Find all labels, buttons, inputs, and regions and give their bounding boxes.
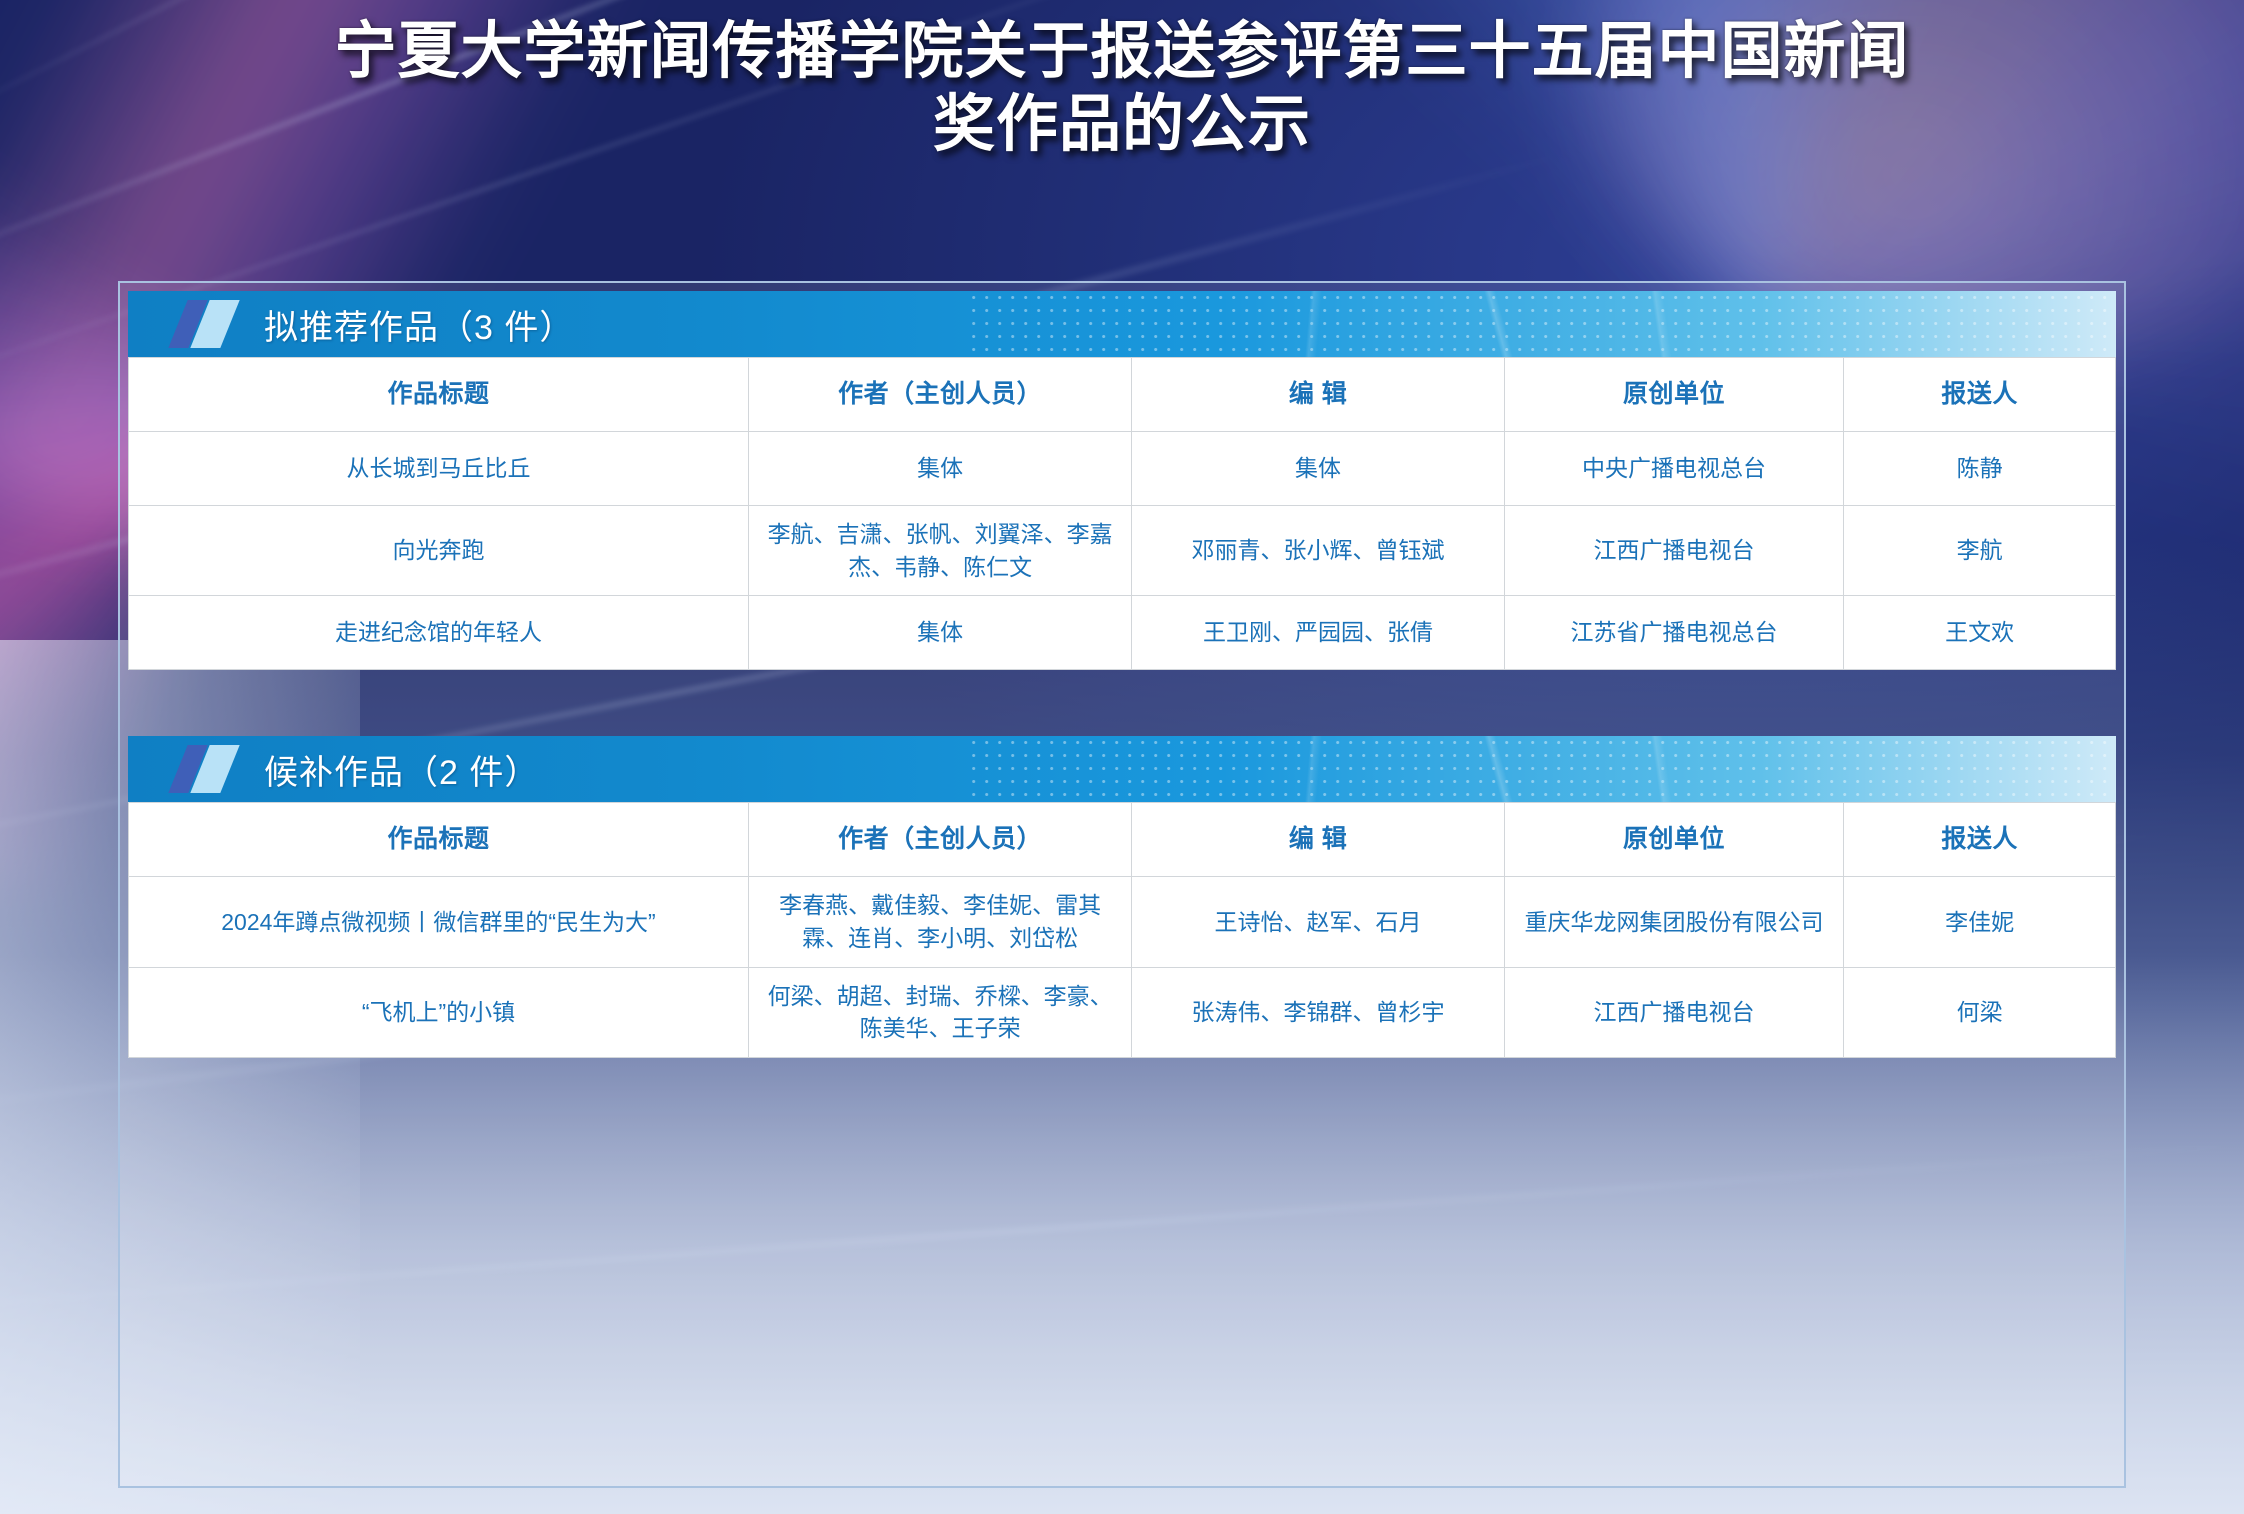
table-row: “飞机上”的小镇 何梁、胡超、封瑞、乔樑、李豪、陈美华、王子荣 张涛伟、李锦群、…	[129, 967, 2116, 1057]
cell-authors: 何梁、胡超、封瑞、乔樑、李豪、陈美华、王子荣	[748, 967, 1131, 1057]
parallelogram-slash-icon	[176, 745, 238, 793]
cell-title: 从长城到马丘比丘	[129, 432, 749, 506]
section-header-bar: 候补作品（2 件）	[128, 736, 2116, 802]
alternate-works-table: 作品标题 作者（主创人员） 编 辑 原创单位 报送人 2024年蹲点微视频丨微信…	[128, 802, 2116, 1058]
table-header-row: 作品标题 作者（主创人员） 编 辑 原创单位 报送人	[129, 358, 2116, 432]
section-spacer	[128, 670, 2116, 736]
column-header-unit: 原创单位	[1504, 803, 1844, 877]
cell-editors: 王诗怡、赵军、石月	[1132, 877, 1504, 967]
cell-submitter: 李航	[1844, 506, 2116, 596]
page-title-line-2: 奖作品的公示	[130, 87, 2114, 160]
cell-submitter: 李佳妮	[1844, 877, 2116, 967]
table-row: 向光奔跑 李航、吉潇、张帆、刘翼泽、李嘉杰、韦静、陈仁文 邓丽青、张小辉、曾钰斌…	[129, 506, 2116, 596]
section-heading: 候补作品（2 件）	[264, 745, 539, 794]
column-header-submitter: 报送人	[1844, 358, 2116, 432]
recommended-works-table: 作品标题 作者（主创人员） 编 辑 原创单位 报送人 从长城到马丘比丘 集体 集…	[128, 357, 2116, 670]
cell-submitter: 陈静	[1844, 432, 2116, 506]
column-header-authors: 作者（主创人员）	[748, 803, 1131, 877]
parallelogram-slash-icon	[176, 300, 238, 348]
page-title: 宁夏大学新闻传播学院关于报送参评第三十五届中国新闻 奖作品的公示	[0, 14, 2244, 160]
cell-submitter: 何梁	[1844, 967, 2116, 1057]
cell-unit: 江西广播电视台	[1504, 967, 1844, 1057]
section-header-bar: 拟推荐作品（3 件）	[128, 291, 2116, 357]
cell-unit: 江西广播电视台	[1504, 506, 1844, 596]
page-title-line-1: 宁夏大学新闻传播学院关于报送参评第三十五届中国新闻	[130, 14, 2114, 87]
table-row: 走进纪念馆的年轻人 集体 王卫刚、严园园、张倩 江苏省广播电视总台 王文欢	[129, 596, 2116, 670]
content-card: 拟推荐作品（3 件） 作品标题 作者（主创人员） 编 辑 原创单位 报送人	[118, 281, 2126, 1488]
cell-editors: 集体	[1132, 432, 1504, 506]
cell-unit: 中央广播电视总台	[1504, 432, 1844, 506]
cell-title: 2024年蹲点微视频丨微信群里的“民生为大”	[129, 877, 749, 967]
column-header-submitter: 报送人	[1844, 803, 2116, 877]
cell-editors: 邓丽青、张小辉、曾钰斌	[1132, 506, 1504, 596]
cell-authors: 李航、吉潇、张帆、刘翼泽、李嘉杰、韦静、陈仁文	[748, 506, 1131, 596]
slide-canvas: 宁夏大学新闻传播学院关于报送参评第三十五届中国新闻 奖作品的公示 拟推荐作品（3…	[0, 0, 2244, 1514]
cell-submitter: 王文欢	[1844, 596, 2116, 670]
section-header-pattern	[963, 291, 2116, 357]
section-alternates: 候补作品（2 件） 作品标题 作者（主创人员） 编 辑 原创单位 报送人	[128, 736, 2116, 1058]
cell-title: “飞机上”的小镇	[129, 967, 749, 1057]
table-row: 从长城到马丘比丘 集体 集体 中央广播电视总台 陈静	[129, 432, 2116, 506]
cell-authors: 集体	[748, 596, 1131, 670]
cell-authors: 李春燕、戴佳毅、李佳妮、雷其霖、连肖、李小明、刘岱松	[748, 877, 1131, 967]
cell-editors: 王卫刚、严园园、张倩	[1132, 596, 1504, 670]
cell-unit: 重庆华龙网集团股份有限公司	[1504, 877, 1844, 967]
cell-unit: 江苏省广播电视总台	[1504, 596, 1844, 670]
cell-title: 向光奔跑	[129, 506, 749, 596]
section-heading: 拟推荐作品（3 件）	[264, 300, 574, 349]
column-header-authors: 作者（主创人员）	[748, 358, 1131, 432]
column-header-title: 作品标题	[129, 358, 749, 432]
cell-editors: 张涛伟、李锦群、曾杉宇	[1132, 967, 1504, 1057]
section-recommended: 拟推荐作品（3 件） 作品标题 作者（主创人员） 编 辑 原创单位 报送人	[128, 291, 2116, 670]
column-header-title: 作品标题	[129, 803, 749, 877]
table-header-row: 作品标题 作者（主创人员） 编 辑 原创单位 报送人	[129, 803, 2116, 877]
section-header-pattern	[963, 736, 2116, 802]
column-header-editors: 编 辑	[1132, 358, 1504, 432]
cell-title: 走进纪念馆的年轻人	[129, 596, 749, 670]
table-row: 2024年蹲点微视频丨微信群里的“民生为大” 李春燕、戴佳毅、李佳妮、雷其霖、连…	[129, 877, 2116, 967]
cell-authors: 集体	[748, 432, 1131, 506]
column-header-unit: 原创单位	[1504, 358, 1844, 432]
column-header-editors: 编 辑	[1132, 803, 1504, 877]
